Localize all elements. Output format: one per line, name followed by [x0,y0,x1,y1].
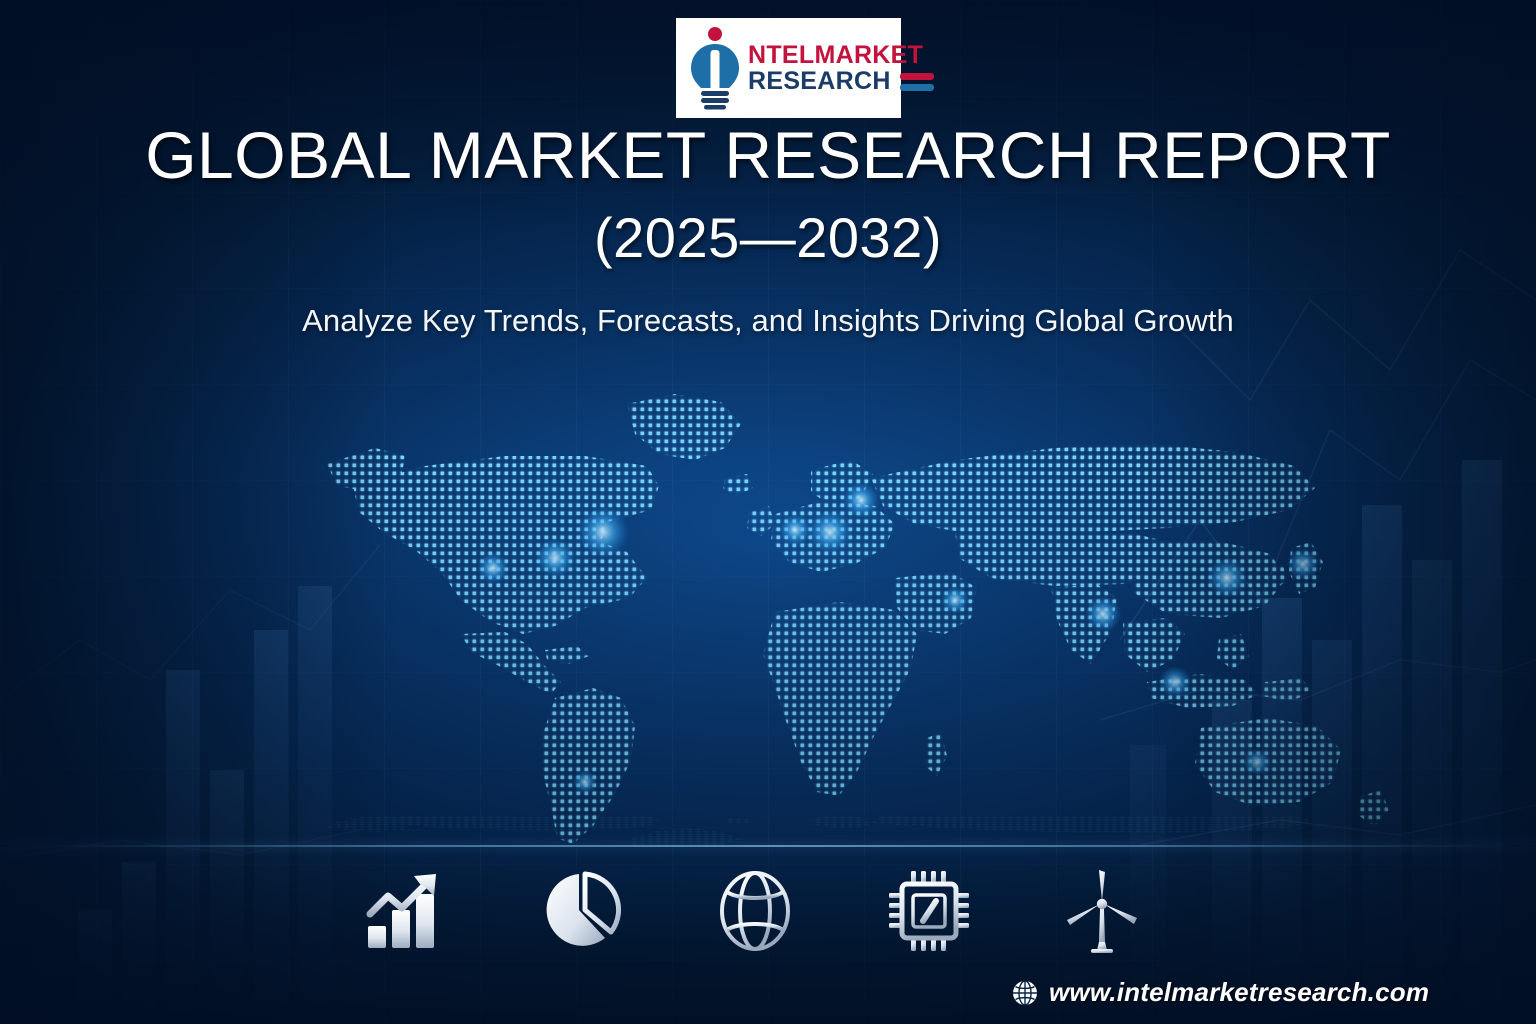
microchip-icon [881,868,977,954]
website-url[interactable]: www.intelmarketresearch.com [1012,977,1429,1008]
wind-turbine-icon [1054,868,1150,954]
brand-name-line2: RESEARCH [748,68,891,95]
accent-dash-red [900,73,934,80]
brand-name-line1: NTELMARKET [748,42,934,69]
globe-icon [707,868,803,954]
feature-icon-row [360,868,1150,954]
page-title: GLOBAL MARKET RESEARCH REPORT [0,122,1536,189]
lightbulb-icon [686,26,744,110]
report-cover: NTELMARKET RESEARCH GLOBAL MARKET RESEAR… [0,0,1536,1024]
pie-chart-icon [534,868,630,954]
globe-icon [1012,980,1038,1006]
brand-logo-text: NTELMARKET RESEARCH [748,42,934,95]
page-subtitle: Analyze Key Trends, Forecasts, and Insig… [0,303,1536,339]
brand-logo[interactable]: NTELMARKET RESEARCH [676,18,901,118]
brand-accent-dashes [900,73,934,91]
accent-dash-blue [900,84,934,91]
page-title-years: (2025—2032) [0,205,1536,270]
website-url-text: www.intelmarketresearch.com [1049,977,1429,1008]
growth-bar-chart-icon [360,868,456,954]
